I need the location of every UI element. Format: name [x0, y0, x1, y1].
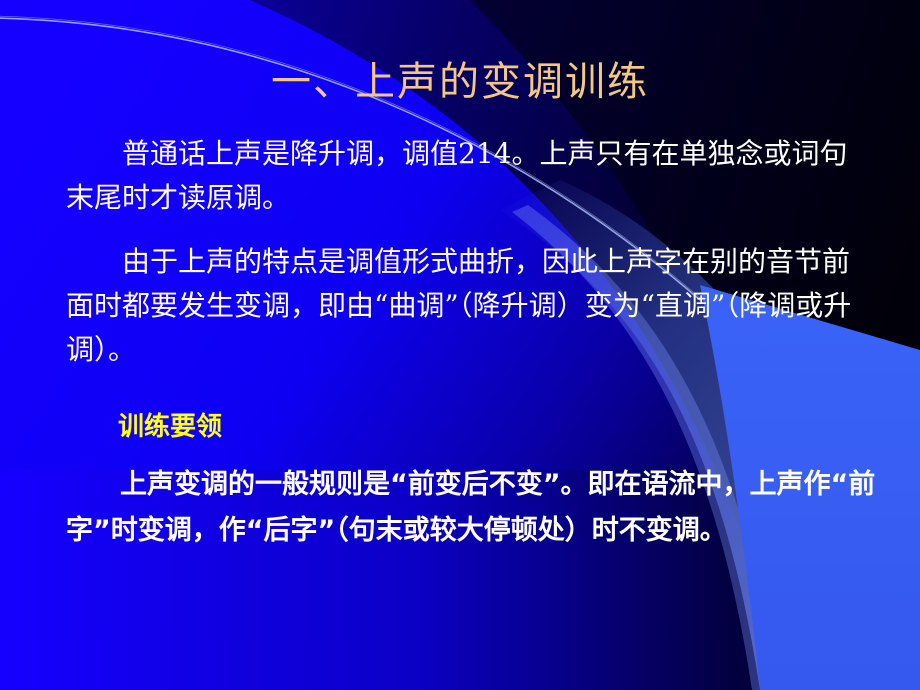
slide-body: 普通话上声是降升调，调值214。上声只有在单独念或词句末尾时才读原调。 由于上声…: [66, 132, 866, 652]
slide-content: 一、上声的变调训练 普通话上声是降升调，调值214。上声只有在单独念或词句末尾时…: [0, 0, 920, 690]
presentation-slide: 一、上声的变调训练 普通话上声是降升调，调值214。上声只有在单独念或词句末尾时…: [0, 0, 920, 690]
paragraph-1: 普通话上声是降升调，调值214。上声只有在单独念或词句末尾时才读原调。: [66, 132, 866, 220]
subheading-training-points: 训练要领: [66, 410, 222, 444]
paragraph-2: 由于上声的特点是调值形式曲折，因此上声字在别的音节前面时都要发生变调，即由“曲调…: [66, 240, 866, 372]
page-title: 一、上声的变调训练: [0, 62, 920, 102]
emphasis-paragraph: 上声变调的一般规则是“前变后不变”。即在语流中，上声作“前字”时变调，作“后字”…: [66, 462, 876, 554]
